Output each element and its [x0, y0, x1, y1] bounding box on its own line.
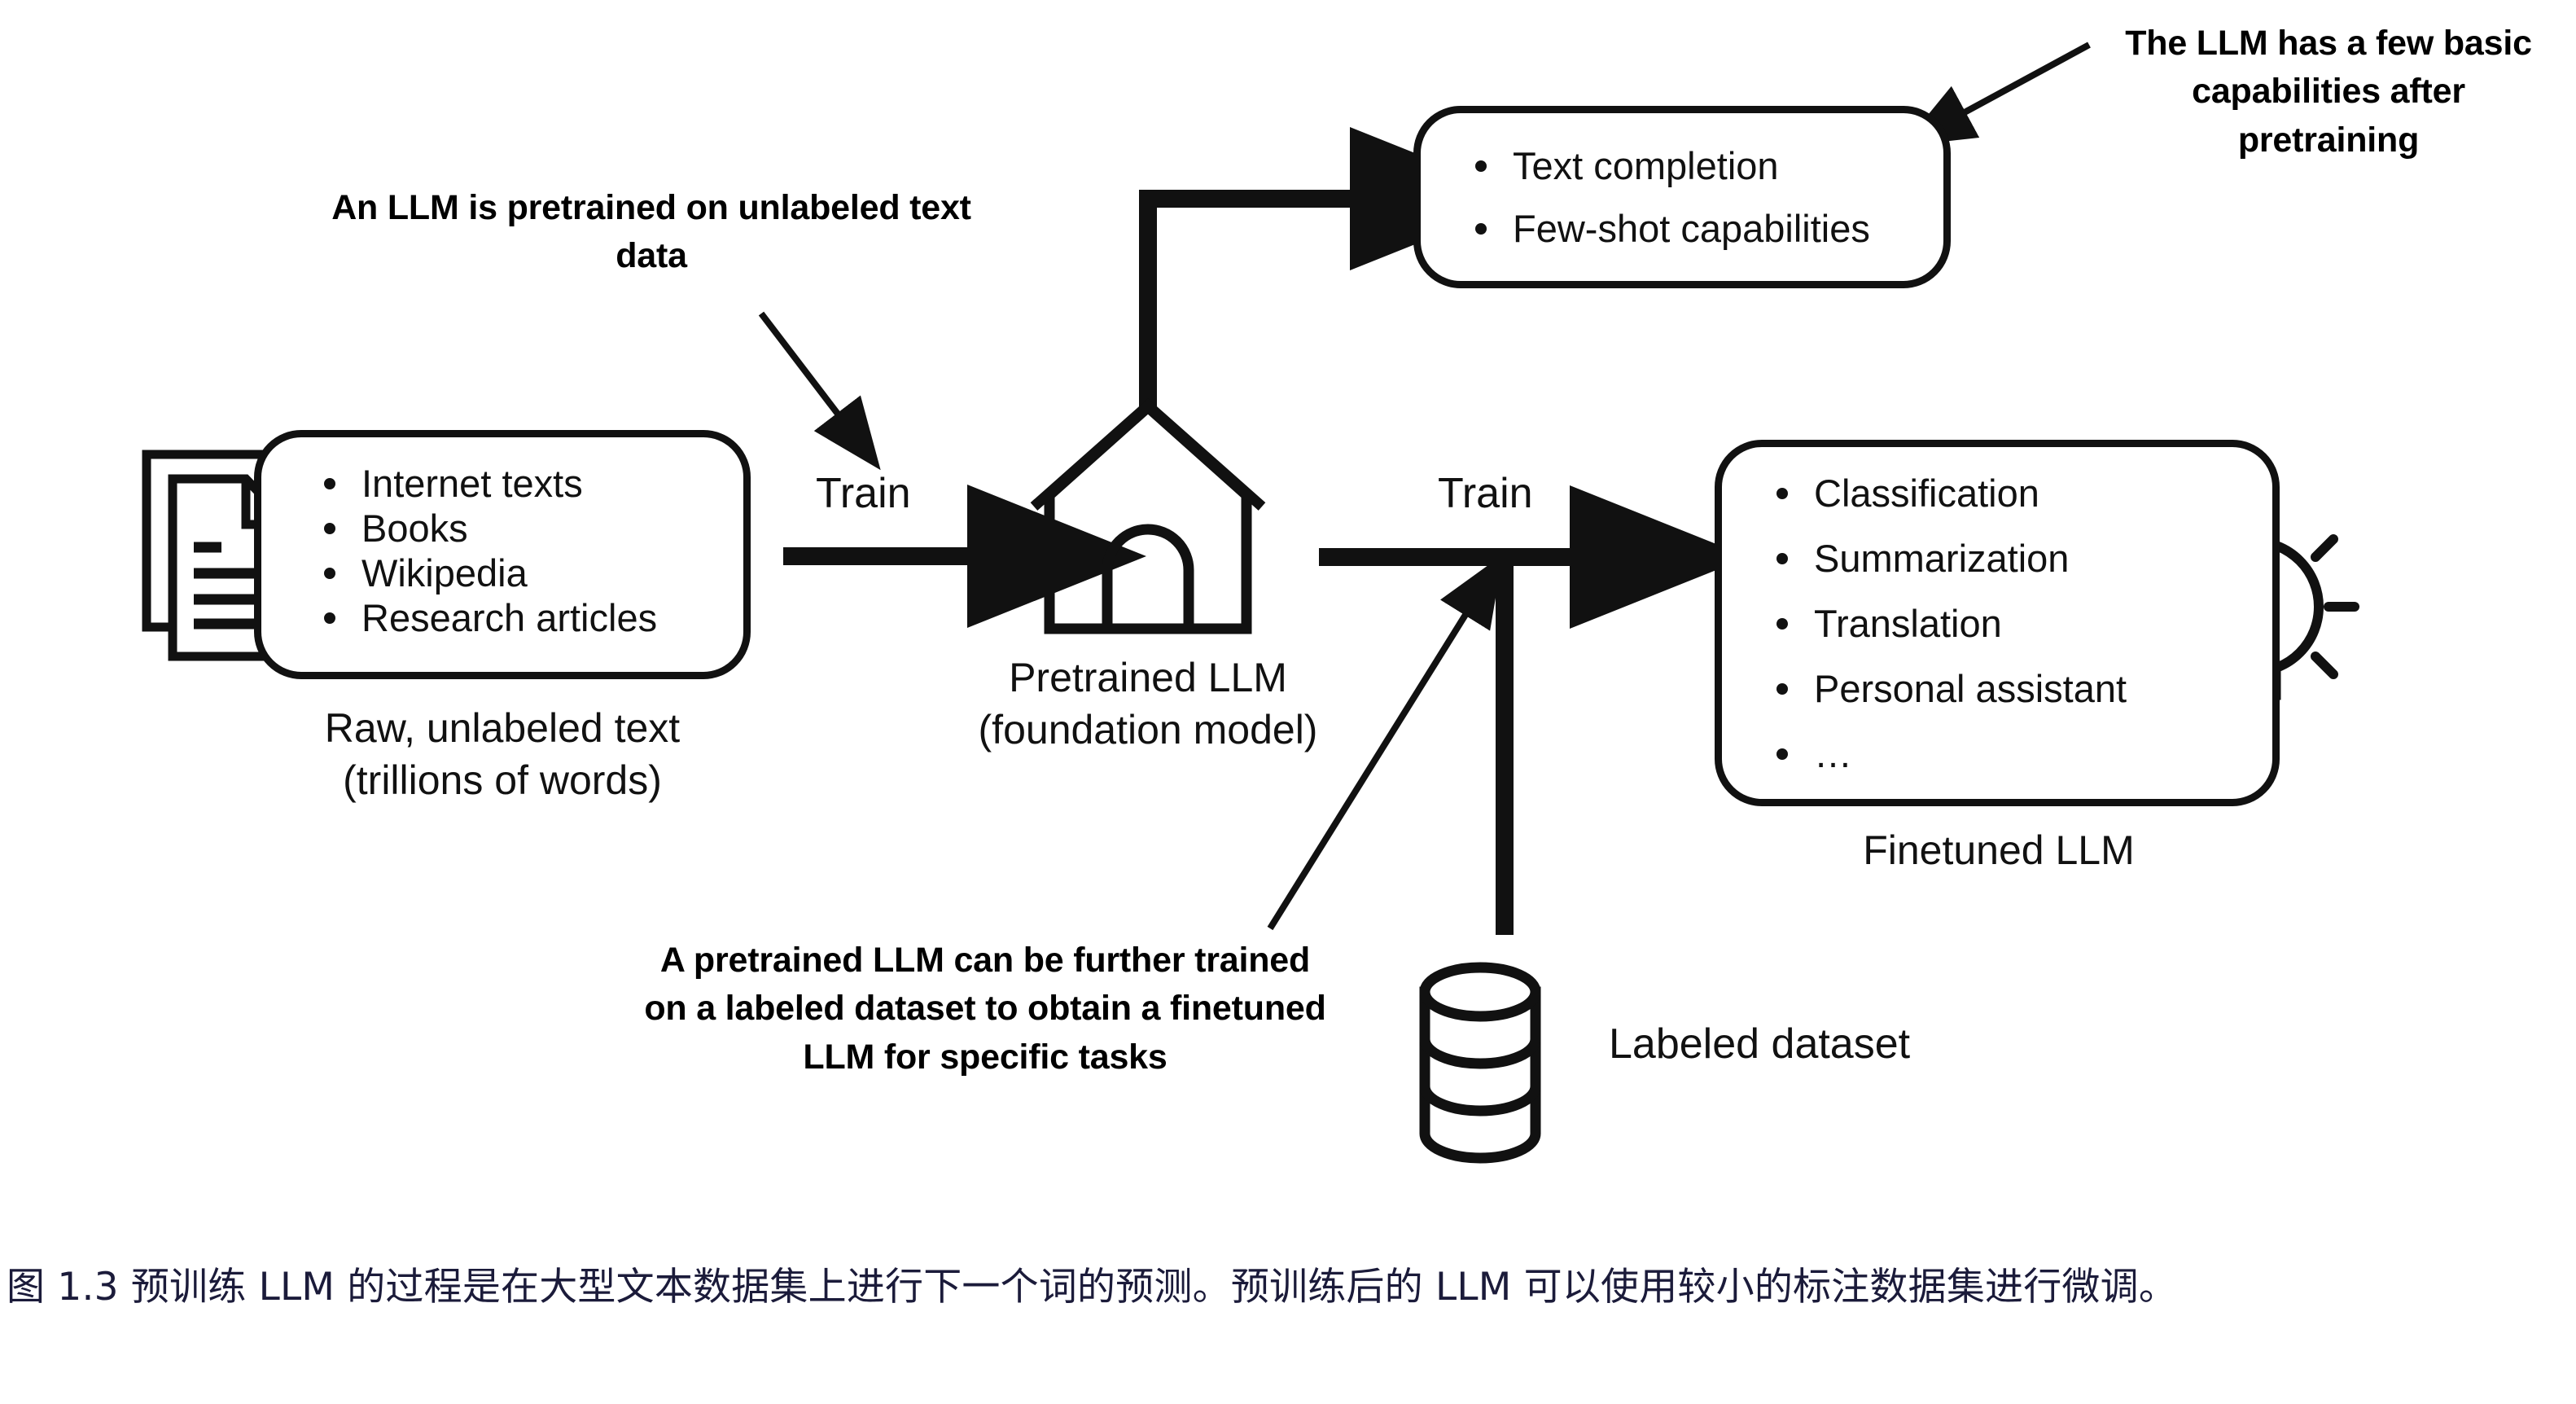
finetuned-list: Classification Summarization Translation… [1772, 471, 2127, 776]
list-item: Few-shot capabilities [1470, 205, 1870, 252]
list-item: Text completion [1470, 143, 1870, 189]
house-icon [1034, 406, 1262, 629]
figure-caption: 图 1.3 预训练 LLM 的过程是在大型文本数据集上进行下一个词的预测。预训练… [7, 1258, 2571, 1316]
labeled-dataset-label: Labeled dataset [1609, 1020, 1910, 1068]
list-item: Translation [1772, 601, 2127, 646]
list-item: Classification [1772, 471, 2127, 516]
annotation-capabilities-note: The LLM has a few basic capabilities aft… [2101, 20, 2556, 165]
arrow-pretrained-to-capabilities [1148, 199, 1368, 407]
list-item: Books [319, 506, 657, 551]
raw-data-caption: Raw, unlabeled text (trillions of words) [173, 702, 832, 806]
leader-line-capabilities-note [1954, 45, 2089, 118]
pretrained-model-caption: Pretrained LLM (foundation model) [863, 652, 1433, 756]
list-item: Research articles [319, 595, 657, 640]
list-item: Wikipedia [319, 551, 657, 595]
finetuned-caption: Finetuned LLM [1750, 824, 2247, 876]
figure-1-3: An LLM is pretrained on unlabeled text d… [0, 0, 2576, 1404]
arrow-train-2-label: Train [1438, 469, 1533, 518]
arrow-train-1-label: Train [816, 469, 911, 518]
leader-line-pretrain-note [761, 314, 845, 423]
list-item: Summarization [1772, 536, 2127, 581]
list-item: … [1772, 731, 2127, 776]
list-item: Personal assistant [1772, 666, 2127, 711]
list-item: Internet texts [319, 461, 657, 506]
annotation-pretrain-note: An LLM is pretrained on unlabeled text d… [326, 184, 977, 281]
database-cylinder-icon [1425, 967, 1536, 1158]
capabilities-list: Text completion Few-shot capabilities [1470, 143, 1870, 252]
annotation-finetune-note: A pretrained LLM can be further trained … [643, 937, 1327, 1082]
raw-data-list: Internet texts Books Wikipedia Research … [319, 461, 657, 640]
